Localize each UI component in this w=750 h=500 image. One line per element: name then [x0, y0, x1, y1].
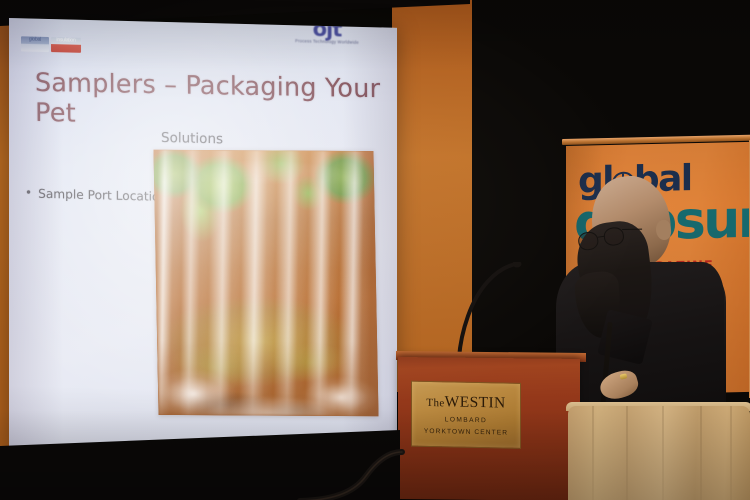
speaker-person: [556, 176, 726, 436]
lectern: TheWESTIN LOMBARD YORKTOWN CENTER: [398, 357, 580, 500]
slide-logo-global-insulation: global insulation: [21, 34, 81, 54]
logo-part-a: global: [21, 36, 49, 44]
slide-title: Samplers – Packaging Your Pet: [35, 68, 385, 134]
sign-hotel-name: TheWESTIN: [426, 393, 505, 413]
sign-westin: WESTIN: [445, 393, 506, 411]
logo-tagline: Process Technology Worldwide: [279, 38, 375, 45]
stage-cable-icon: [296, 448, 406, 500]
bullet-marker: •: [25, 186, 32, 198]
sign-city: LOMBARD: [445, 416, 487, 424]
slide-content: global insulation ojt Process Technology…: [9, 18, 397, 460]
bullet-label: Sample Port Location: [38, 187, 167, 204]
sign-the: The: [426, 397, 444, 409]
slide-logo-ojt: ojt Process Technology Worldwide: [279, 19, 375, 45]
hotel-name-sign: TheWESTIN LOMBARD YORKTOWN CENTER: [411, 381, 521, 449]
slide-bullet-item: • Sample Port Location: [25, 186, 175, 204]
logo-part-b: insulation: [51, 37, 81, 45]
sign-location: YORKTOWN CENTER: [424, 428, 508, 437]
logo-mark: ojt: [279, 19, 375, 39]
projection-screen: global insulation ojt Process Technology…: [9, 18, 397, 460]
slide-subtitle: Solutions: [161, 130, 223, 148]
slide-waterfall-image: [153, 150, 378, 416]
draped-table: [568, 406, 750, 500]
presentation-photo: global insulation ojt Process Technology…: [0, 0, 750, 500]
